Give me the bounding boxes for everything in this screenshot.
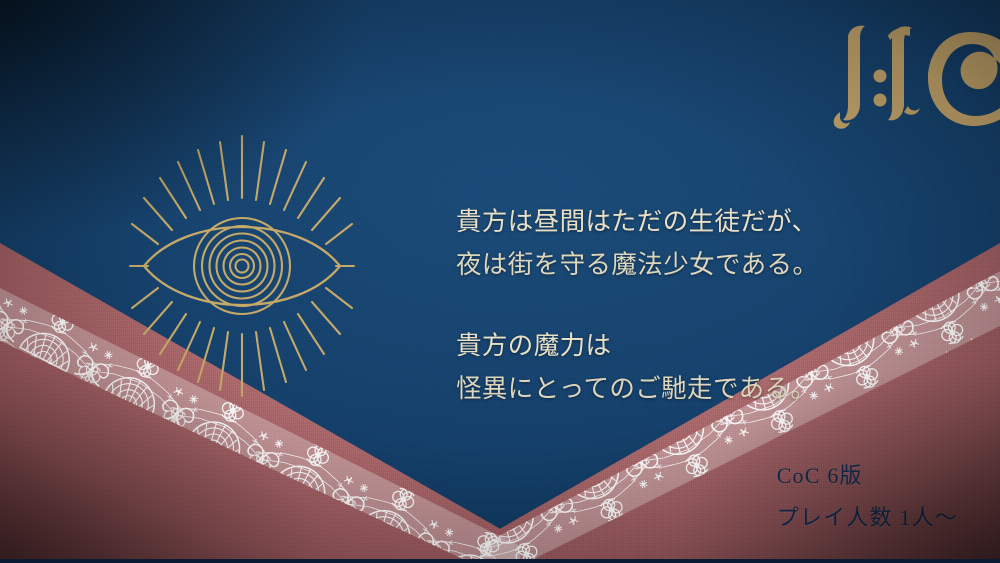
player-count-label: プレイ人数 1人〜 xyxy=(777,497,958,539)
body-paragraph-1: 貴方は昼間はただの生徒だが、 夜は街を守る魔法少女である。 xyxy=(456,200,886,286)
poster-canvas: 貴方は昼間はただの生徒だが、 夜は街を守る魔法少女である。 貴方の魔力は 怪異に… xyxy=(0,0,1000,563)
mystic-eye-icon xyxy=(128,132,356,400)
paragraph-gap xyxy=(456,286,886,324)
body-line-2: 夜は街を守る魔法少女である。 xyxy=(456,250,818,279)
meta-info-block: CoC 6版 プレイ人数 1人〜 xyxy=(777,455,958,539)
gold-monogram-logo-icon xyxy=(830,16,1000,134)
body-line-4: 怪異にとってのご馳走である。 xyxy=(456,374,816,403)
body-paragraph-2: 貴方の魔力は 怪異にとってのご馳走である。 xyxy=(456,324,886,410)
bottom-letterbox-bar xyxy=(0,559,1000,563)
body-line-1: 貴方は昼間はただの生徒だが、 xyxy=(456,207,818,236)
body-line-3: 貴方の魔力は xyxy=(456,331,611,360)
body-text-block: 貴方は昼間はただの生徒だが、 夜は街を守る魔法少女である。 貴方の魔力は 怪異に… xyxy=(456,200,886,410)
system-label: CoC 6版 xyxy=(777,455,958,497)
